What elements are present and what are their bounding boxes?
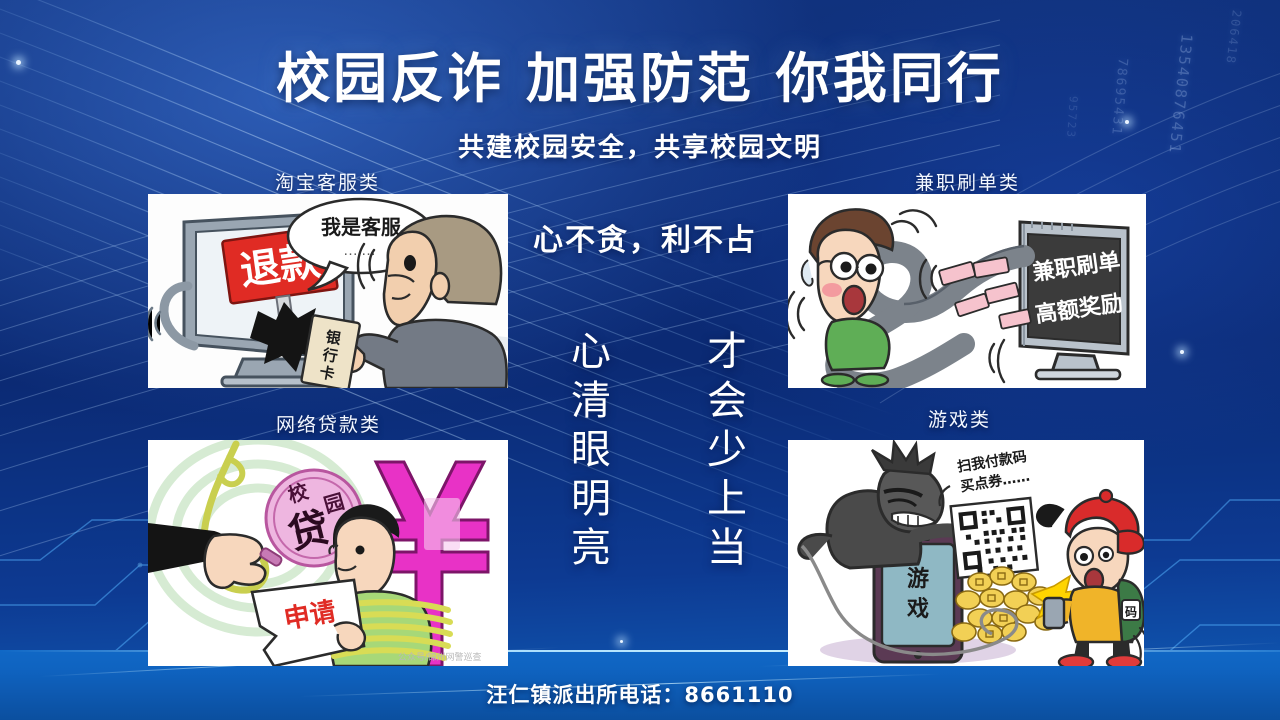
panel-watermark: 公众号/锦州网警巡查 [398, 651, 482, 662]
page-title: 校园反诈 加强防范 你我同行 [0, 34, 1280, 113]
background-spark [1125, 120, 1129, 124]
slogan-vertical-right: 才会少上当 [694, 330, 752, 575]
illustration-taobao-customer-service: 退款 我是客服 …… [148, 194, 508, 388]
category-label-parttime: 兼职刷单类 [915, 168, 1020, 195]
backpack-label: 码 [1125, 605, 1137, 619]
slogan-horizontal: 心不贪，利不占 [500, 215, 790, 259]
page-subtitle: 共建校园安全，共享校园文明 [0, 127, 1280, 164]
anti-fraud-poster: 13540876451 78695431 206418 95723 校园反诈 加… [0, 0, 1280, 720]
category-label-taobao: 淘宝客服类 [275, 168, 380, 195]
slogan-vertical-left: 心清眼明亮 [558, 330, 616, 575]
background-spark [1180, 350, 1184, 354]
phone-screen-label-char1: 游 [907, 566, 929, 592]
illustration-game-scam: 游 戏 [788, 440, 1144, 666]
speech-bubble-text: 我是客服 [321, 215, 402, 239]
illustration-part-time-order-brushing: 兼职刷单 高额奖励 [788, 194, 1146, 388]
category-label-loan: 网络贷款类 [276, 410, 381, 437]
illustration-campus-loan: 校 园 贷 [148, 440, 508, 666]
footer-contact: 汪仁镇派出所电话：8661110 [0, 679, 1280, 709]
background-spark [620, 640, 623, 643]
phone-screen-label-char2: 戏 [906, 597, 929, 622]
category-label-game: 游戏类 [928, 405, 991, 432]
bank-card-label-char3: 卡 [318, 363, 336, 383]
